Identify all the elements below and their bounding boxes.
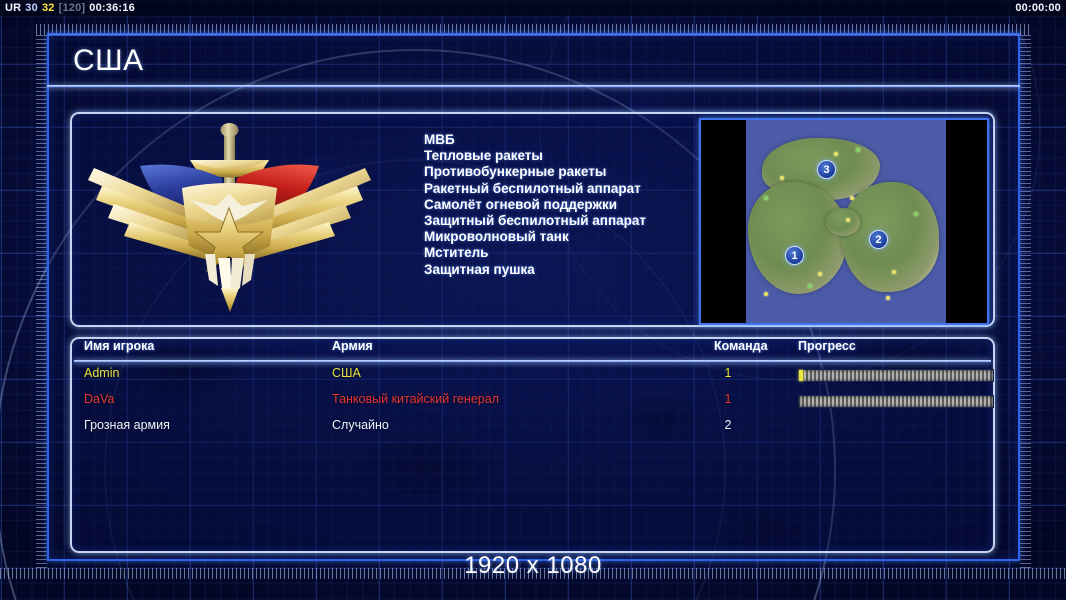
ruler-right	[1020, 35, 1031, 568]
table-row[interactable]: DaVa Танковый китайский генерал 1	[72, 392, 993, 417]
resolution-label: 1920 x 1080	[0, 552, 1066, 580]
usa-emblem-icon	[82, 120, 377, 320]
island-center	[826, 208, 860, 236]
hud-bracket-value: [120]	[59, 2, 86, 14]
resource-marker	[886, 296, 890, 300]
ability-item: МВБ	[424, 132, 646, 148]
ability-item: Противобункерные ракеты	[424, 164, 646, 180]
player-name: DaVa	[84, 392, 114, 406]
resource-marker	[764, 196, 768, 200]
ability-item: Ракетный беспилотный аппарат	[424, 181, 646, 197]
ability-item: Защитная пушка	[424, 262, 646, 278]
table-row[interactable]: Admin США 1	[72, 366, 993, 391]
page-title: США	[47, 44, 144, 78]
island-southeast	[841, 182, 939, 292]
column-header-name: Имя игрока	[84, 339, 154, 353]
player-progress-bar	[798, 395, 994, 408]
player-team: 2	[712, 418, 744, 432]
hud-value-1: 30	[25, 2, 38, 14]
column-header-team: Команда	[714, 339, 768, 353]
header-divider	[74, 360, 991, 363]
players-panel: Имя игрока Армия Команда Прогресс Admin …	[70, 337, 995, 553]
player-army: Случайно	[332, 418, 389, 432]
table-row[interactable]: Грозная армия Случайно 2	[72, 418, 993, 443]
ability-item: Мститель	[424, 245, 646, 261]
start-position-2: 2	[869, 230, 888, 249]
start-position-3: 3	[817, 160, 836, 179]
ruler-left	[36, 35, 47, 568]
start-position-1: 1	[785, 246, 804, 265]
ability-item: Защитный беспилотный аппарат	[424, 213, 646, 229]
faction-info-panel: МВБ Тепловые ракеты Противобункерные рак…	[70, 112, 995, 327]
column-header-army: Армия	[332, 339, 373, 353]
resource-marker	[892, 270, 896, 274]
progress-lead-segment	[799, 370, 803, 381]
resource-marker	[818, 272, 822, 276]
resource-marker	[914, 212, 918, 216]
resource-marker	[808, 284, 812, 288]
minimap-preview[interactable]: 3 1 2	[699, 118, 989, 325]
top-hud-bar: UR 30 32 [120] 00:36:16 00:00:00	[0, 0, 1066, 16]
ability-item: Самолёт огневой поддержки	[424, 197, 646, 213]
ability-item: Микроволновый танк	[424, 229, 646, 245]
hud-clock-left: 00:36:16	[89, 2, 135, 14]
resource-marker	[846, 218, 850, 222]
resource-marker	[850, 196, 854, 200]
hud-value-2: 32	[42, 2, 55, 14]
player-army: США	[332, 366, 361, 380]
hud-clock-right: 00:00:00	[1015, 2, 1061, 14]
island-southwest	[748, 182, 848, 294]
player-name: Грозная армия	[84, 418, 170, 432]
player-army: Танковый китайский генерал	[332, 392, 499, 406]
players-table-header: Имя игрока Армия Команда Прогресс	[72, 339, 993, 360]
resource-marker	[764, 292, 768, 296]
ability-item: Тепловые ракеты	[424, 148, 646, 164]
faction-emblem	[82, 120, 377, 320]
title-bar: США	[47, 33, 1020, 88]
resource-marker	[780, 176, 784, 180]
player-team: 1	[712, 392, 744, 406]
player-team: 1	[712, 366, 744, 380]
column-header-progress: Прогресс	[798, 339, 856, 353]
minimap-image: 3 1 2	[746, 120, 946, 323]
resource-marker	[834, 152, 838, 156]
title-underline	[47, 85, 1020, 88]
player-progress-bar	[798, 369, 994, 382]
hud-label: UR	[5, 2, 21, 14]
resource-marker	[856, 148, 860, 152]
faction-ability-list: МВБ Тепловые ракеты Противобункерные рак…	[424, 132, 646, 278]
player-name: Admin	[84, 366, 119, 380]
